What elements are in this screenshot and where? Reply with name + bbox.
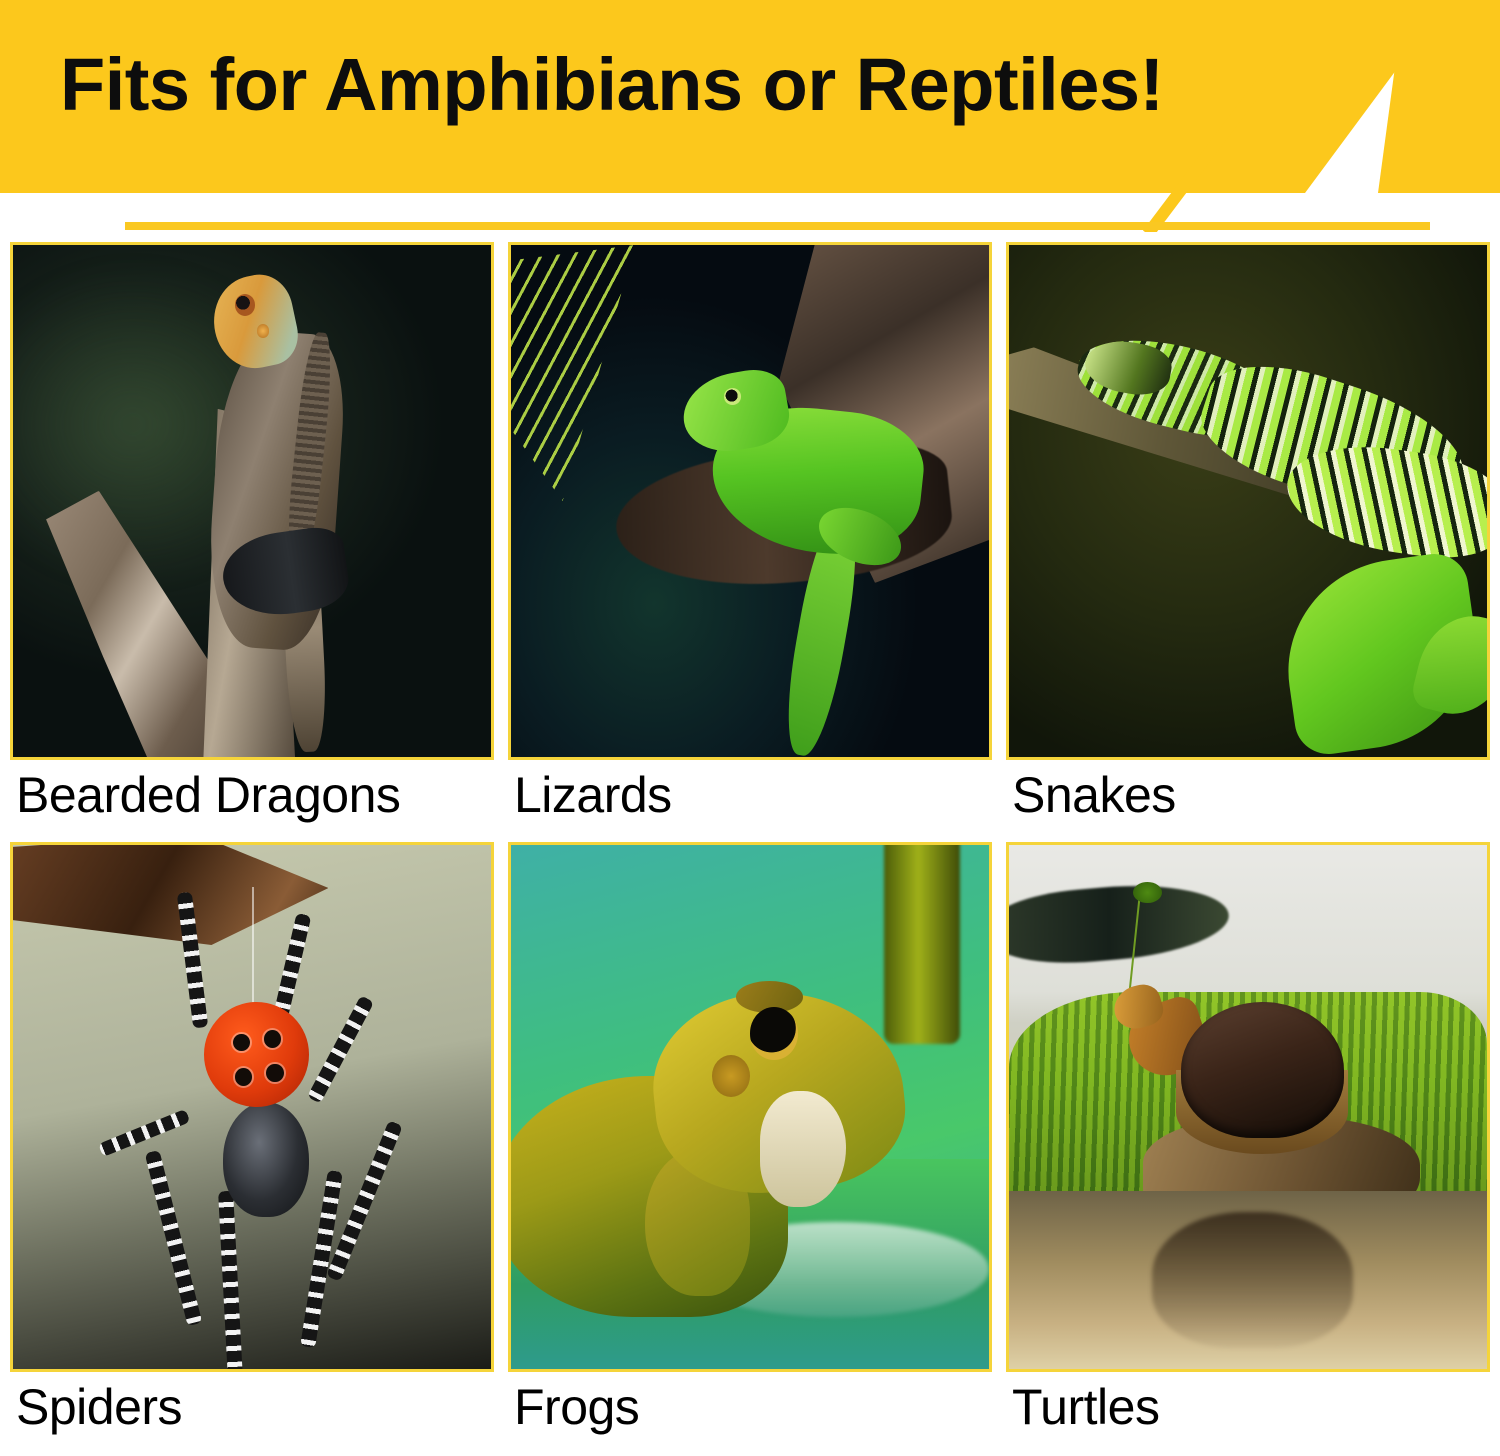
header-banner: Fits for Amphibians or Reptiles! <box>0 0 1500 232</box>
lizard-eye <box>724 388 741 404</box>
turtle-reflection <box>1152 1212 1353 1348</box>
tile-caption: Spiders <box>10 1372 494 1454</box>
spider-red-abdomen <box>204 1002 309 1107</box>
photo-turtle-on-mossy-bank <box>1006 842 1490 1372</box>
gallery-tile-spiders[interactable]: Spiders <box>10 842 494 1454</box>
tile-caption: Frogs <box>508 1372 992 1454</box>
banner-underline-rule <box>125 222 1430 230</box>
page-title: Fits for Amphibians or Reptiles! <box>60 48 1164 122</box>
gallery-tile-lizards[interactable]: Lizards <box>508 242 992 842</box>
tile-caption: Snakes <box>1006 760 1490 842</box>
dragon-ear-patch <box>257 324 269 337</box>
photo-green-lizard-on-branch <box>508 242 992 760</box>
gallery-tile-bearded-dragons[interactable]: Bearded Dragons <box>10 242 494 842</box>
abdomen-spot <box>266 1064 283 1082</box>
frog-throat <box>760 1091 846 1206</box>
tile-caption: Turtles <box>1006 1372 1490 1454</box>
animal-gallery-grid: Bearded Dragons Lizards <box>10 242 1490 1454</box>
frog-tympanum <box>712 1055 750 1097</box>
tile-caption: Lizards <box>508 760 992 842</box>
photo-green-pit-viper-on-branch <box>1006 242 1490 760</box>
dragon-eye <box>235 294 255 316</box>
plant-stem <box>884 842 960 1044</box>
tile-caption: Bearded Dragons <box>10 760 494 842</box>
photo-red-ladybird-spider-hanging <box>10 842 494 1372</box>
spider-cephalothorax <box>223 1102 309 1217</box>
gallery-tile-snakes[interactable]: Snakes <box>1006 242 1490 842</box>
gallery-tile-frogs[interactable]: Frogs <box>508 842 992 1454</box>
turtle-shell <box>1181 1002 1344 1138</box>
photo-golden-frog-on-lily-pad <box>508 842 992 1372</box>
frog-eye <box>750 1007 798 1059</box>
silk-thread <box>252 887 254 1002</box>
gallery-tile-turtles[interactable]: Turtles <box>1006 842 1490 1454</box>
photo-bearded-dragon-on-branch <box>10 242 494 760</box>
abdomen-spot <box>235 1068 252 1086</box>
plant-sprig-leaf <box>1133 882 1162 903</box>
